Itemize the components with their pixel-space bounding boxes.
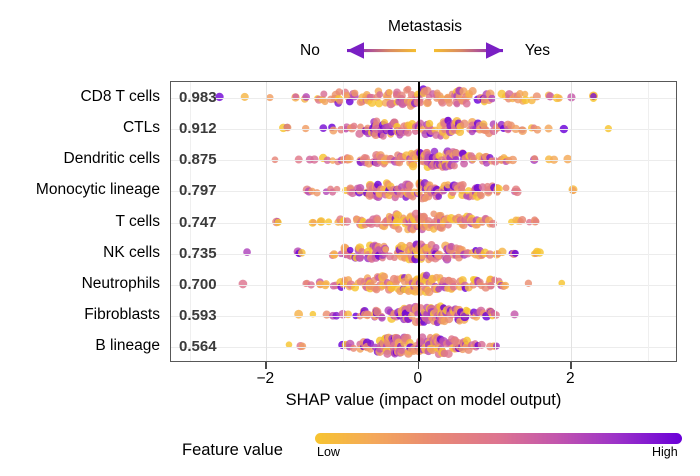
- feature-label: NK cells: [103, 244, 160, 262]
- shap-point: [373, 117, 380, 124]
- plot-area: 0.9830.9120.8750.7970.7470.7350.7000.593…: [170, 81, 677, 362]
- vertical-gridline: [571, 82, 572, 361]
- shap-point: [533, 92, 541, 100]
- vertical-gridline: [266, 82, 267, 361]
- shap-point: [347, 247, 354, 254]
- shap-point: [426, 120, 434, 128]
- vertical-gridline-minor: [343, 82, 344, 361]
- feature-label: CTLs: [123, 119, 160, 137]
- metastasis-annotation: Metastasis No Yes: [300, 18, 550, 64]
- shap-point: [451, 162, 458, 169]
- shap-point: [518, 126, 527, 135]
- arrow-right-icon: [434, 42, 503, 59]
- arrow-label-no: No: [300, 41, 320, 61]
- feature-importance-value: 0.875: [179, 152, 217, 168]
- shap-point: [460, 119, 469, 128]
- shap-point: [350, 345, 357, 352]
- horizontal-gridline: [171, 160, 676, 161]
- x-tick-mark: [418, 362, 419, 369]
- shap-point: [294, 310, 303, 319]
- feature-importance-value: 0.797: [179, 183, 217, 199]
- zero-reference-line: [418, 82, 420, 361]
- shap-point: [511, 310, 519, 318]
- feature-importance-value: 0.564: [179, 339, 217, 355]
- shap-point: [323, 280, 330, 287]
- horizontal-gridline: [171, 98, 676, 99]
- metastasis-title: Metastasis: [300, 18, 550, 36]
- shap-point: [395, 226, 402, 233]
- feature-importance-value: 0.747: [179, 215, 217, 231]
- shap-point: [343, 217, 351, 225]
- feature-label: Fibroblasts: [84, 306, 160, 324]
- shap-point: [376, 91, 383, 98]
- shap-point: [374, 216, 381, 223]
- metastasis-gradient-arrows: [326, 39, 524, 63]
- shap-point: [469, 87, 477, 95]
- shap-point: [409, 162, 417, 170]
- x-tick-label: 2: [566, 370, 575, 388]
- horizontal-gridline: [171, 316, 676, 317]
- shap-point: [351, 90, 358, 97]
- feature-label: Neutrophils: [82, 275, 160, 293]
- arrow-label-yes: Yes: [525, 41, 550, 61]
- shap-summary-plot: Metastasis No Yes: [0, 0, 700, 476]
- shap-point: [382, 246, 389, 253]
- x-axis-title: SHAP value (impact on model output): [170, 390, 677, 410]
- shap-point: [406, 182, 414, 190]
- x-tick-label: −2: [256, 370, 274, 388]
- shap-point: [463, 100, 471, 108]
- beeswarm-points: [171, 82, 676, 361]
- shap-point: [320, 91, 327, 98]
- metastasis-arrow-row: No Yes: [300, 39, 550, 63]
- horizontal-gridline: [171, 129, 676, 130]
- feature-label-column: CD8 T cellsCTLsDendritic cellsMonocytic …: [0, 81, 165, 362]
- vertical-gridline-minor: [495, 82, 496, 361]
- horizontal-gridline: [171, 285, 676, 286]
- shap-point: [446, 100, 453, 107]
- feature-importance-value: 0.700: [179, 277, 217, 293]
- feature-importance-value: 0.912: [179, 121, 217, 137]
- arrow-left-icon: [347, 42, 416, 59]
- shap-point: [435, 193, 442, 200]
- horizontal-gridline: [171, 223, 676, 224]
- shap-point: [239, 280, 248, 289]
- feature-importance-value: 0.735: [179, 246, 217, 262]
- x-tick-mark: [265, 362, 266, 369]
- shap-point: [477, 192, 484, 199]
- feature-label: Monocytic lineage: [36, 181, 160, 199]
- shap-point: [298, 249, 306, 257]
- shap-point: [345, 155, 354, 164]
- shap-point: [535, 248, 544, 257]
- shap-point: [364, 311, 372, 319]
- feature-label: T cells: [115, 213, 160, 231]
- feature-label: Dendritic cells: [64, 150, 160, 168]
- colorbar-low-label: Low: [317, 445, 340, 460]
- horizontal-gridline: [171, 191, 676, 192]
- colorbar-high-label: High: [652, 445, 678, 460]
- shap-point: [241, 93, 249, 101]
- feature-importance-value: 0.593: [179, 308, 217, 324]
- feature-importance-value: 0.983: [179, 90, 217, 106]
- x-tick-mark: [570, 362, 571, 369]
- legend-title: Feature value: [182, 440, 283, 460]
- horizontal-gridline: [171, 254, 676, 255]
- shap-point: [215, 93, 223, 101]
- shap-point: [433, 244, 440, 251]
- x-tick-label: 0: [413, 370, 422, 388]
- feature-label: B lineage: [95, 337, 160, 355]
- feature-label: CD8 T cells: [80, 88, 160, 106]
- colorbar: [315, 433, 682, 444]
- vertical-gridline-minor: [648, 82, 649, 361]
- shap-point: [459, 181, 467, 189]
- shap-point: [302, 93, 310, 101]
- feature-value-legend: Feature value Low High: [182, 432, 692, 472]
- horizontal-gridline: [171, 347, 676, 348]
- shap-point: [329, 127, 337, 135]
- shap-point: [386, 89, 393, 96]
- shap-point: [325, 218, 332, 225]
- shap-point: [284, 124, 292, 132]
- shap-point: [344, 310, 352, 318]
- shap-point: [317, 217, 326, 226]
